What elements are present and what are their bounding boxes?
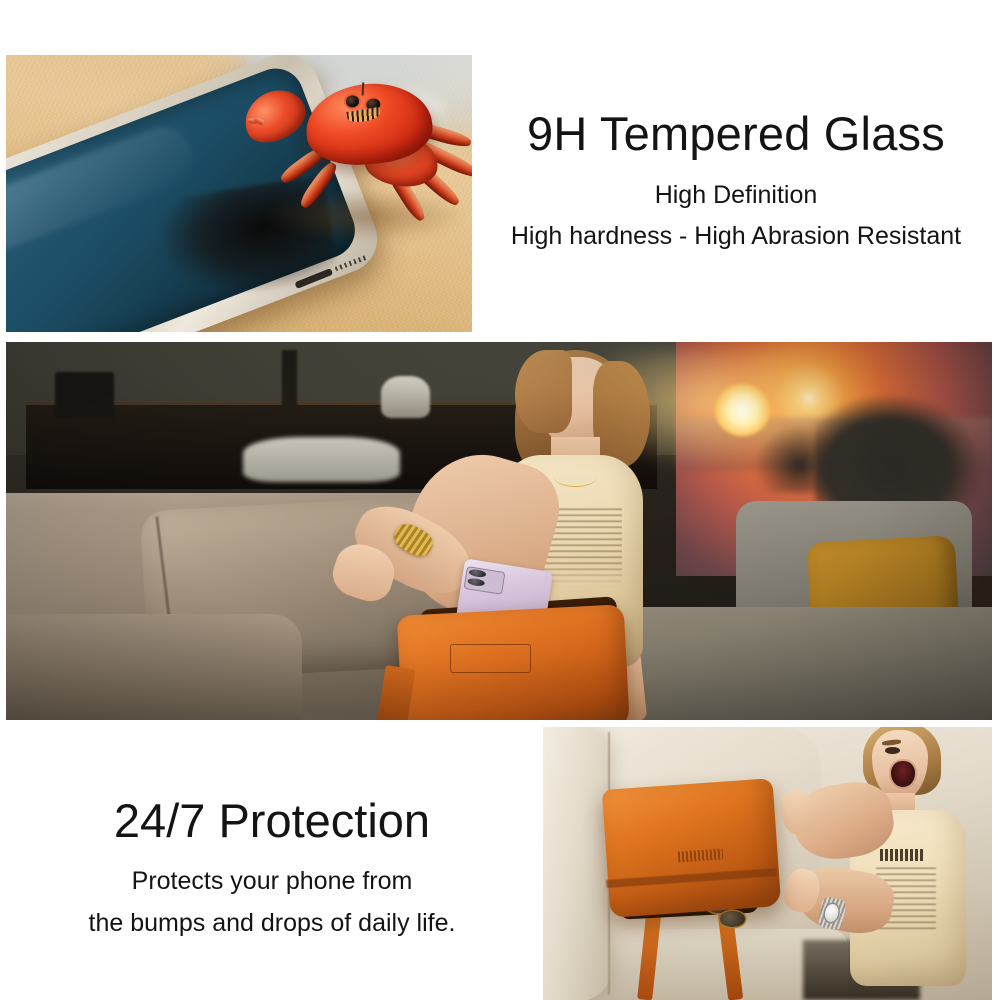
woman-shocked-looking-in-bag-photo <box>543 727 992 1000</box>
chair-post <box>282 350 297 410</box>
sunglasses-lens <box>720 911 746 927</box>
crab-antenna <box>362 83 365 96</box>
bag-logo-patch <box>450 644 531 672</box>
red-crab <box>248 66 472 265</box>
glass-subtitle-1: High Definition <box>472 177 1000 215</box>
woman <box>785 727 992 1000</box>
gold-necklace <box>554 467 597 487</box>
feature-board: 9H Tempered Glass High Definition High h… <box>0 0 1000 1000</box>
protection-feature-text: 24/7 Protection Protects your phone from… <box>12 795 532 943</box>
protection-subtitle-1: Protects your phone from <box>12 862 532 901</box>
woman-placing-phone-in-bag-photo <box>6 342 992 720</box>
shirt-logo-text <box>880 849 923 860</box>
crab-claw-left <box>236 81 314 152</box>
glass-subtitle-2: High hardness - High Abrasion Resistant <box>472 218 1000 256</box>
decor-vase <box>381 376 430 418</box>
glass-headline: 9H Tempered Glass <box>472 108 1000 161</box>
protection-headline: 24/7 Protection <box>12 795 532 848</box>
sofa-armrest <box>6 614 302 720</box>
hair-front <box>515 350 572 433</box>
hair-side <box>593 361 650 467</box>
crab-eye <box>345 94 360 107</box>
crab-pincer <box>254 117 265 126</box>
crab-mouthparts <box>347 107 381 124</box>
orange-leather-bag <box>602 779 781 919</box>
glass-feature-text: 9H Tempered Glass High Definition High h… <box>472 108 1000 256</box>
crab-shadow <box>263 190 467 242</box>
open-mouth-shocked <box>891 761 915 787</box>
sofa-armrest <box>543 727 610 1000</box>
protection-subtitle-2: the bumps and drops of daily life. <box>12 904 532 943</box>
background-pillow <box>243 437 401 482</box>
crab-on-phone-beach-photo <box>6 55 472 332</box>
decor-box <box>55 372 114 417</box>
